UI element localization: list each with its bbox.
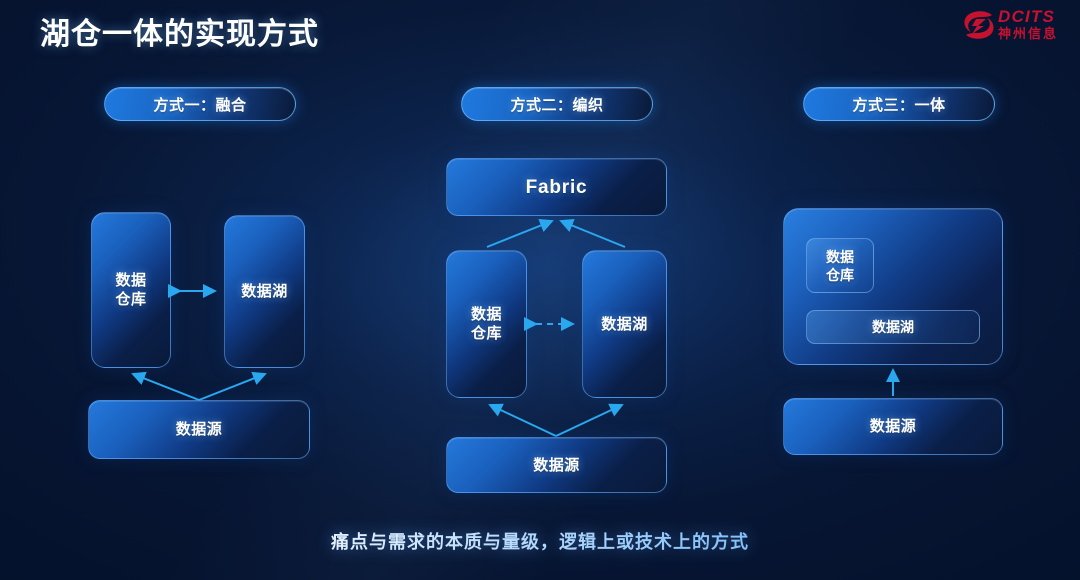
col2-data-lake-box[interactable]: 数据湖 bbox=[582, 250, 667, 398]
column-2-pill[interactable]: 方式二：编织 bbox=[461, 87, 653, 121]
col2-data-warehouse-box[interactable]: 数据 仓库 bbox=[446, 250, 527, 398]
col2-data-source-box[interactable]: 数据源 bbox=[446, 437, 667, 493]
column-2-pill-label: 方式二：编织 bbox=[510, 94, 603, 115]
col2-data-source-label: 数据源 bbox=[533, 456, 580, 475]
col1-data-warehouse-label: 数据 仓库 bbox=[115, 271, 146, 309]
col2-lake-to-fabric-arrow bbox=[561, 221, 625, 247]
footer-caption: 痛点与需求的本质与量级，逻辑上或技术上的方式 bbox=[0, 528, 1080, 554]
col2-source-to-dw-arrow bbox=[490, 405, 556, 436]
col2-data-lake-label: 数据湖 bbox=[601, 315, 648, 334]
col1-data-lake-box[interactable]: 数据湖 bbox=[224, 215, 305, 368]
col1-data-source-label: 数据源 bbox=[176, 420, 223, 439]
col1-data-source-box[interactable]: 数据源 bbox=[88, 400, 310, 459]
column-1-pill[interactable]: 方式一：融合 bbox=[104, 87, 296, 121]
col3-data-lake-box[interactable]: 数据湖 bbox=[806, 310, 980, 344]
slide-canvas: 湖仓一体的实现方式 DCITS 神州信息 方式一：融合 方式二：编织 方式三：一… bbox=[0, 0, 1080, 580]
swoosh-mark bbox=[962, 10, 996, 40]
col1-data-lake-label: 数据湖 bbox=[241, 282, 288, 301]
col1-source-to-dw-arrow bbox=[133, 374, 199, 400]
column-3-pill-label: 方式三：一体 bbox=[852, 94, 945, 115]
company-logo: DCITS 神州信息 bbox=[962, 6, 1068, 48]
col2-source-to-lake-arrow bbox=[556, 405, 622, 436]
col3-data-warehouse-label: 数据 仓库 bbox=[826, 248, 854, 284]
col1-source-to-lake-arrow bbox=[199, 374, 265, 400]
col3-data-source-box[interactable]: 数据源 bbox=[783, 398, 1003, 455]
column-3-pill[interactable]: 方式三：一体 bbox=[803, 87, 995, 121]
col2-dw-to-fabric-arrow bbox=[487, 221, 552, 247]
col3-data-lake-label: 数据湖 bbox=[872, 318, 914, 336]
column-1-pill-label: 方式一：融合 bbox=[153, 94, 246, 115]
col3-data-warehouse-box[interactable]: 数据 仓库 bbox=[806, 238, 874, 293]
logo-brand-latin: DCITS bbox=[998, 7, 1058, 26]
col1-data-warehouse-box[interactable]: 数据 仓库 bbox=[91, 212, 171, 368]
col2-data-warehouse-label: 数据 仓库 bbox=[471, 305, 502, 343]
col2-fabric-label: Fabric bbox=[526, 178, 588, 197]
col3-data-source-label: 数据源 bbox=[870, 417, 917, 436]
logo-brand-cn: 神州信息 bbox=[998, 26, 1058, 41]
page-title: 湖仓一体的实现方式 bbox=[40, 9, 319, 53]
col2-fabric-box[interactable]: Fabric bbox=[446, 158, 667, 216]
